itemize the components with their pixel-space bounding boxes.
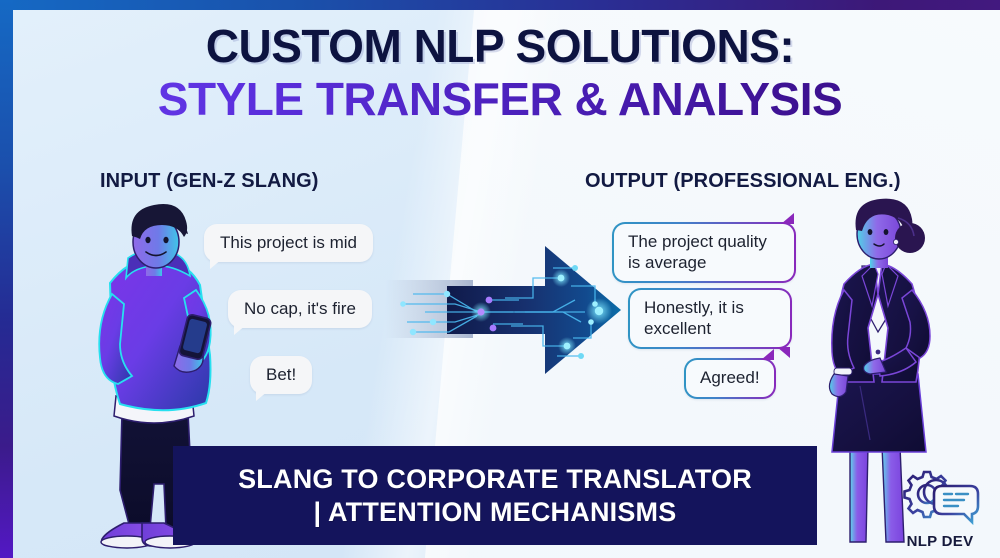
output-column-heading: OUTPUT (PROFESSIONAL ENG.) — [585, 170, 901, 193]
input-message-text: Bet! — [266, 365, 296, 384]
infographic-poster: This project is mid No cap, it's fire Be… — [0, 0, 1000, 558]
page-title: CUSTOM NLP SOLUTIONS: STYLE TRANSFER & A… — [0, 22, 1000, 124]
frame-left-border — [0, 0, 13, 558]
title-line-2: STYLE TRANSFER & ANALYSIS — [0, 75, 1000, 124]
output-message-text: Honestly, it is excellent — [630, 290, 790, 347]
output-message-text: Agreed! — [686, 360, 774, 397]
bottom-banner: SLANG TO CORPORATE TRANSLATOR | ATTENTIO… — [173, 446, 817, 545]
title-line-1: CUSTOM NLP SOLUTIONS: — [0, 22, 1000, 71]
gear-magnifier-chat-icon — [894, 464, 986, 530]
output-message-bubble-2: Honestly, it is excellent — [628, 288, 792, 349]
banner-line-1: SLANG TO CORPORATE TRANSLATOR — [238, 463, 752, 496]
circuit-arrow-right-icon — [385, 238, 635, 383]
brand-logo: NLP DEV — [894, 464, 986, 550]
output-message-bubble-1: The project quality is average — [612, 222, 796, 283]
banner-line-2: | ATTENTION MECHANISMS — [314, 496, 677, 529]
frame-top-border — [0, 0, 1000, 10]
input-message-text: No cap, it's fire — [244, 299, 356, 318]
input-column-heading: INPUT (GEN-Z SLANG) — [100, 170, 319, 193]
output-message-text: The project quality is average — [614, 224, 794, 281]
logo-text: NLP DEV — [894, 533, 986, 550]
output-message-bubble-3: Agreed! — [684, 358, 776, 399]
